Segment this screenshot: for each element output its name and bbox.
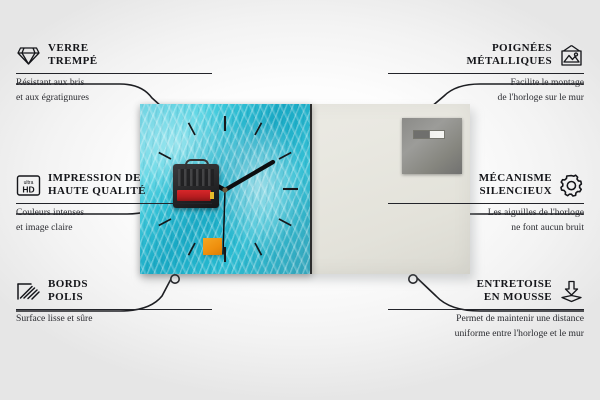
feature-bords-polis: BORDS POLIS Surface lisse et sûre [16,278,212,325]
feature-title-line2: TREMPÉ [48,55,97,68]
metal-hanger-plate [402,118,462,174]
feature-subtitle-line2: ne font aucun bruit [388,222,584,234]
infographic-stage: VERRE TREMPÉ Résistant aux bris et aux é… [0,0,600,400]
feature-title-line1: ENTRETOISE [477,278,552,291]
feature-rule [388,203,584,204]
feature-subtitle-line1: Les aiguilles de l'horloge [388,207,584,219]
feature-subtitle-line1: Surface lisse et sûre [16,313,212,325]
feature-title-line1: IMPRESSION DE [48,172,146,185]
feature-subtitle-line2: et image claire [16,222,212,234]
foam-spacer [203,238,222,255]
feature-title-line2: EN MOUSSE [477,291,552,304]
feature-rule [388,309,584,310]
feature-rule [16,73,212,74]
second-hand [223,190,225,254]
svg-text:HD: HD [22,184,34,194]
feature-title-line2: SILENCIEUX [479,185,552,198]
feature-title-line1: VERRE [48,42,97,55]
feature-subtitle-line2: de l'horloge sur le mur [388,92,584,104]
foam-spacer-icon [559,279,584,304]
feature-rule [16,309,212,310]
picture-hanger-icon [559,43,584,68]
hanger-slot [413,130,445,139]
feature-impression-haute-qualite: ultra HD IMPRESSION DE HAUTE QUALITÉ Cou… [16,172,212,235]
feature-subtitle-line1: Permet de maintenir une distance [388,313,584,325]
polished-edges-icon [16,279,41,304]
feature-title-line2: MÉTALLIQUES [467,55,553,68]
feature-subtitle-line2: uniforme entre l'horloge et le mur [388,328,584,340]
feature-poignees-metalliques: POIGNÉES MÉTALLIQUES Facilite le montage… [388,42,584,105]
ultra-hd-icon: ultra HD [16,173,41,198]
feature-title-line2: POLIS [48,291,88,304]
feature-subtitle-line1: Facilite le montage [388,77,584,89]
feature-subtitle-line1: Couleurs intenses [16,207,212,219]
feature-verre-trempe: VERRE TREMPÉ Résistant aux bris et aux é… [16,42,212,105]
diamond-icon [16,43,41,68]
feature-title-line1: POIGNÉES [467,42,553,55]
feature-rule [16,203,212,204]
feature-subtitle-line2: et aux égratignures [16,92,212,104]
feature-subtitle-line1: Résistant aux bris [16,77,212,89]
minute-hand [225,162,273,190]
clock-center-cap [222,187,227,192]
feature-title-line1: BORDS [48,278,88,291]
feature-rule [388,73,584,74]
feature-title-line2: HAUTE QUALITÉ [48,185,146,198]
gear-icon [559,173,584,198]
feature-entretoise-en-mousse: ENTRETOISE EN MOUSSE Permet de maintenir… [388,278,584,341]
feature-title-line1: MÉCANISME [479,172,552,185]
feature-mecanisme-silencieux: MÉCANISME SILENCIEUX Les aiguilles de l'… [388,172,584,235]
